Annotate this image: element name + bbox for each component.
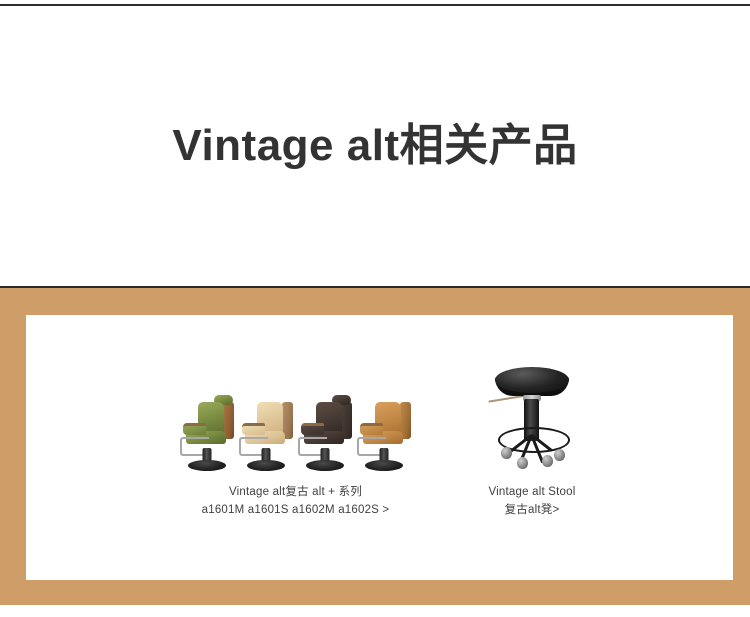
chair-cream-icon [238, 385, 294, 471]
page-title: Vintage alt相关产品 [172, 122, 577, 170]
product-card-stool[interactable]: Vintage alt Stool 复古alt凳> [484, 363, 580, 519]
product-caption-line-2[interactable]: 复古alt凳> [489, 501, 576, 519]
related-products-panel: Vintage alt复古 alt + 系列 a1601M a1601S a16… [26, 315, 733, 580]
product-row: Vintage alt复古 alt + 系列 a1601M a1601S a16… [26, 315, 733, 580]
chair-brown-icon [297, 385, 353, 471]
product-caption-line-2[interactable]: a1601M a1601S a1602M a1602S > [202, 501, 390, 519]
product-card-chair-series[interactable]: Vintage alt复古 alt + 系列 a1601M a1601S a16… [179, 363, 412, 519]
chair-tan-icon [356, 385, 412, 471]
hero-banner: Vintage alt相关产品 [0, 6, 750, 286]
product-caption-line-1: Vintage alt复古 alt + 系列 [202, 483, 390, 501]
related-products-band: Vintage alt复古 alt + 系列 a1601M a1601S a16… [0, 286, 750, 605]
product-caption-stool: Vintage alt Stool 复古alt凳> [489, 483, 576, 519]
product-caption-line-1: Vintage alt Stool [489, 483, 576, 501]
product-image-stool [484, 363, 580, 471]
chair-lineup [179, 385, 412, 471]
stool-icon [484, 365, 580, 471]
chair-green-icon [179, 385, 235, 471]
product-image-chair-series [179, 363, 412, 471]
product-caption-chair-series: Vintage alt复古 alt + 系列 a1601M a1601S a16… [202, 483, 390, 519]
